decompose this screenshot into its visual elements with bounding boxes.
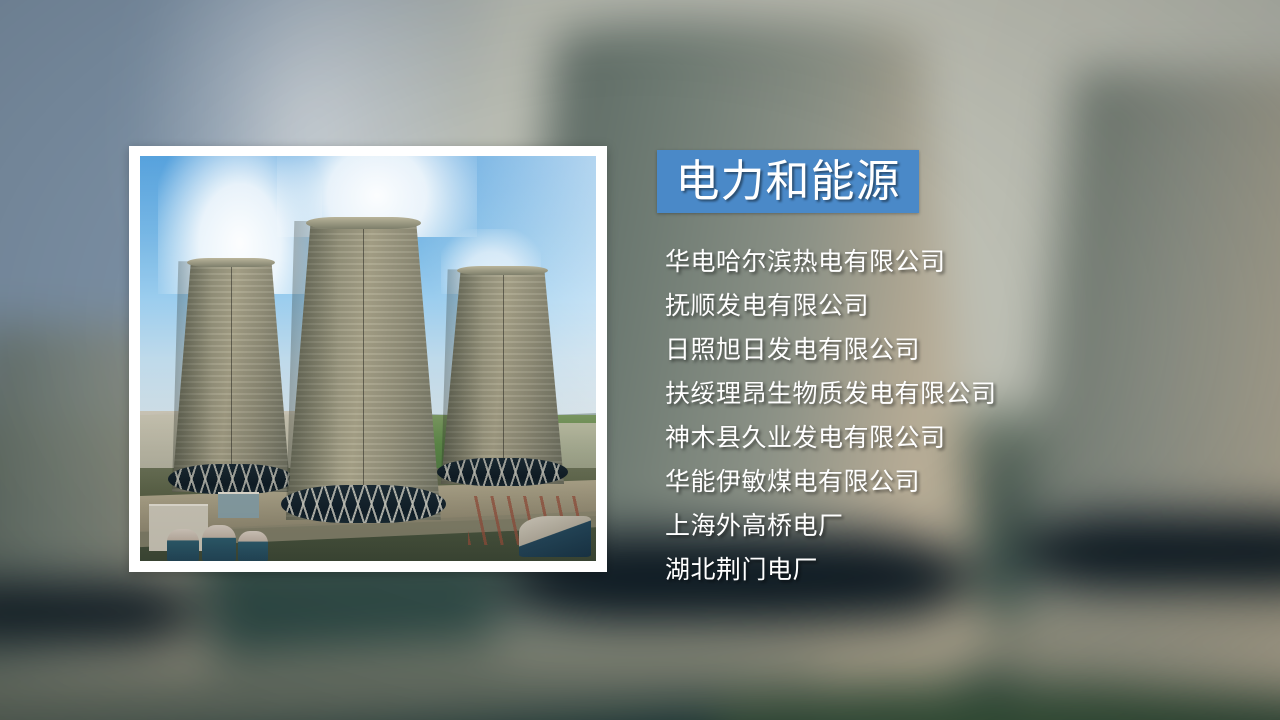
list-item: 抚顺发电有限公司 [665, 284, 1225, 328]
company-list: 华电哈尔滨热电有限公司 抚顺发电有限公司 日照旭日发电有限公司 扶绥理昂生物质发… [665, 240, 1225, 592]
list-item: 扶绥理昂生物质发电有限公司 [665, 372, 1225, 416]
list-item: 日照旭日发电有限公司 [665, 328, 1225, 372]
list-item: 上海外高桥电厂 [665, 504, 1225, 548]
page-title: 电力和能源 [676, 160, 901, 204]
list-item: 神木县久业发电有限公司 [665, 416, 1225, 460]
title-badge: 电力和能源 [657, 150, 919, 213]
list-item: 华电哈尔滨热电有限公司 [665, 240, 1225, 284]
tower-air-intake [281, 485, 445, 524]
photo-frame [129, 146, 607, 572]
tower-seam [363, 221, 364, 521]
list-item: 华能伊敏煤电有限公司 [665, 460, 1225, 504]
power-plant-photo [140, 156, 596, 561]
photo-cooling-tower-center [286, 221, 441, 521]
tower-rim [306, 217, 421, 229]
slide-canvas: 电力和能源 华电哈尔滨热电有限公司 抚顺发电有限公司 日照旭日发电有限公司 扶绥… [0, 0, 1280, 720]
list-item: 湖北荆门电厂 [665, 548, 1225, 592]
tower-shadow [286, 221, 339, 521]
tower-support-columns [281, 485, 445, 524]
